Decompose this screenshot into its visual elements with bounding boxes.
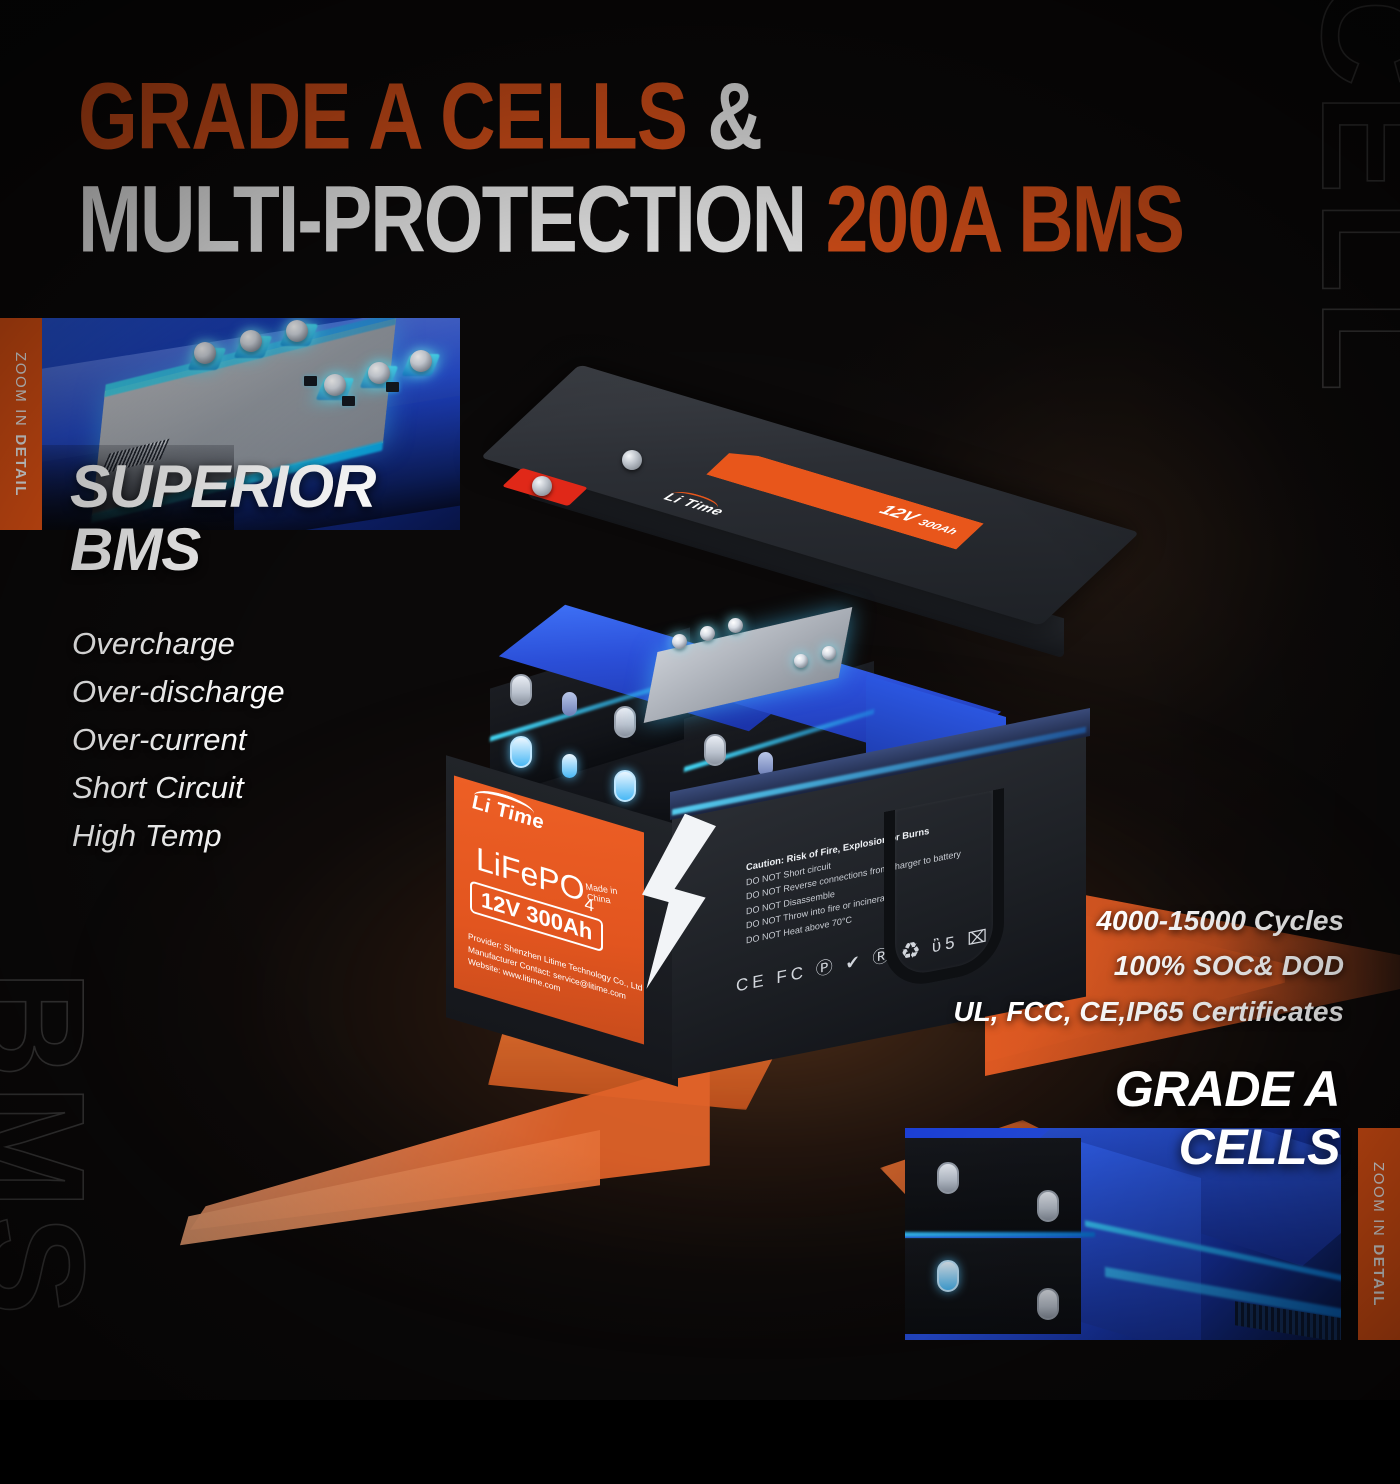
grade-a-line2: CELLS <box>1115 1118 1340 1176</box>
grade-a-cells-title: GRADE A CELLS <box>1115 1060 1340 1176</box>
vignette-overlay <box>0 0 1400 1400</box>
grade-a-line1: GRADE A <box>1115 1060 1340 1118</box>
